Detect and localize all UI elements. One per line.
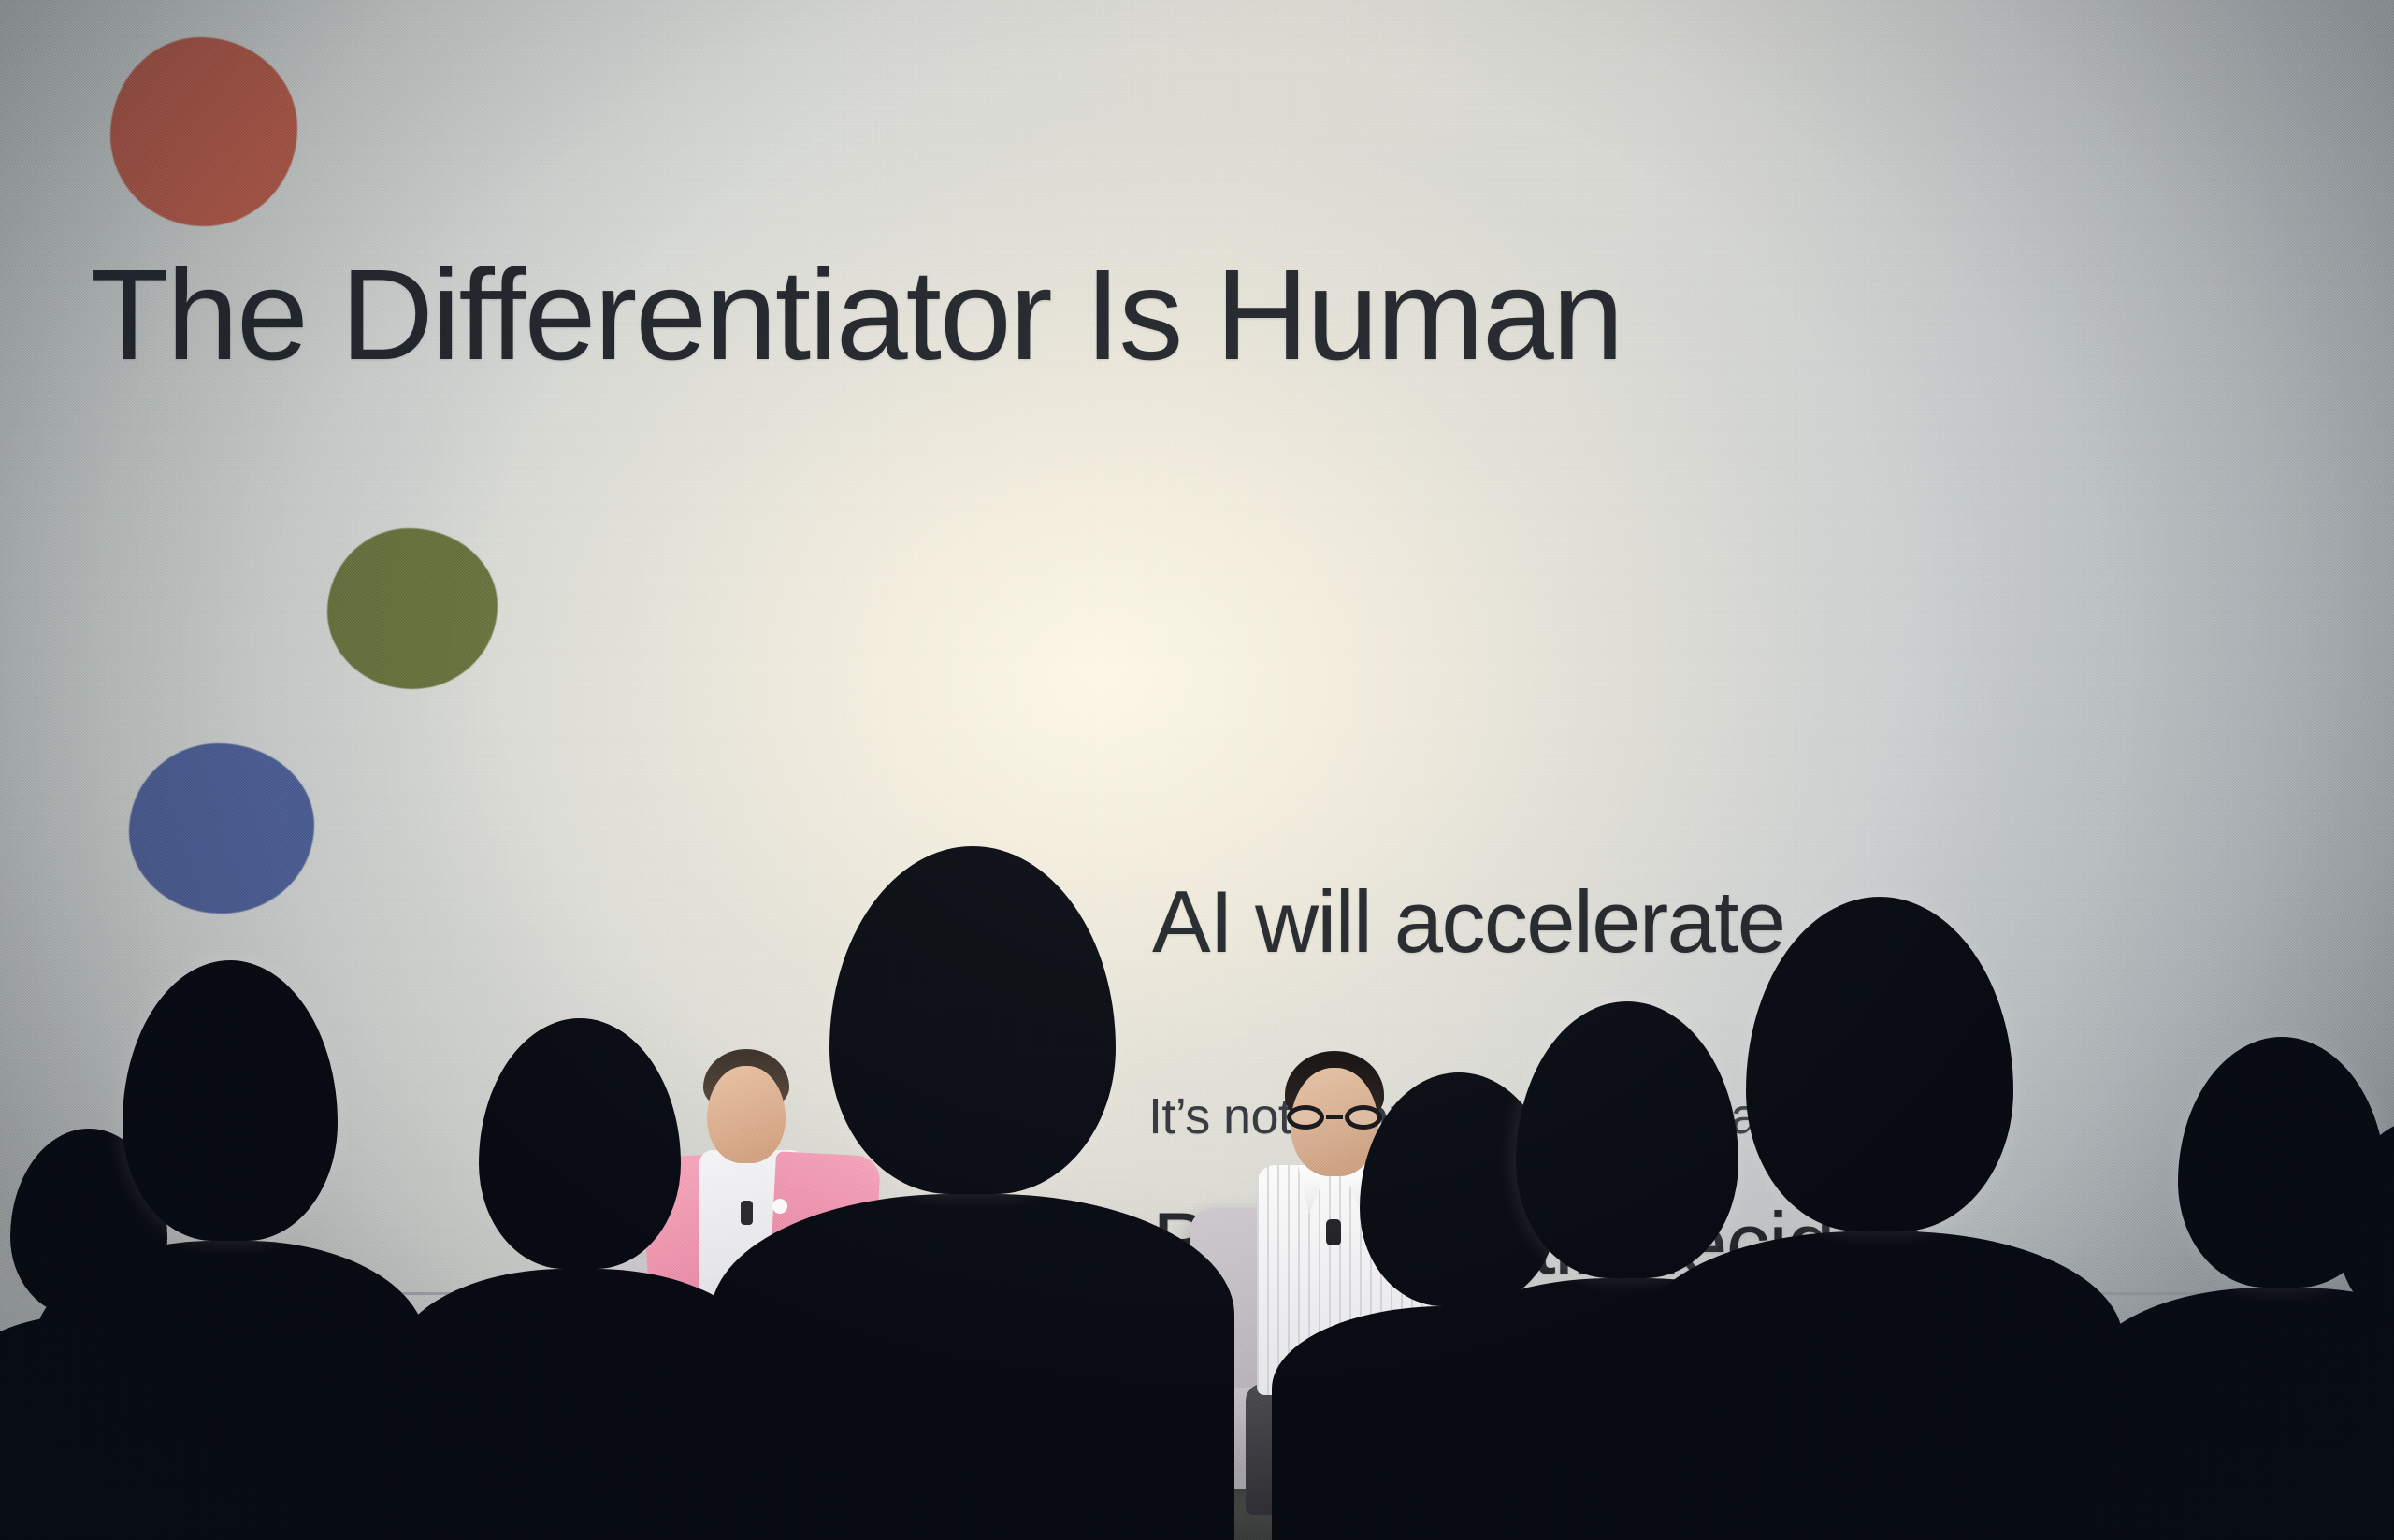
audience-head-2 bbox=[90, 775, 370, 1540]
audience-head-7-head bbox=[1746, 897, 2013, 1231]
audience-head-7 bbox=[1721, 755, 2039, 1540]
audience-head-9 bbox=[2300, 811, 2394, 1540]
audience-head-4-head bbox=[829, 846, 1116, 1194]
audience-head-3-head bbox=[479, 1018, 681, 1269]
slide-green-dot bbox=[327, 528, 498, 689]
audience-head-9-head bbox=[2338, 1119, 2394, 1325]
audience-head-4 bbox=[804, 728, 1141, 1540]
red-dot-shape bbox=[110, 37, 297, 226]
green-dot-shape bbox=[327, 528, 498, 689]
slide-red-dot bbox=[110, 37, 297, 226]
audience-head-2-shoulders bbox=[34, 1241, 426, 1540]
speaker-left-lavalier-mic bbox=[741, 1201, 753, 1225]
audience-head-2-head bbox=[123, 960, 338, 1241]
audience-head-3 bbox=[440, 773, 720, 1540]
speaker-left-lapel-pin bbox=[772, 1199, 787, 1214]
audience-head-6-head bbox=[1516, 1001, 1738, 1278]
slide-title: The Differentiator Is Human bbox=[90, 251, 1622, 380]
audience-head-7-shoulders bbox=[1637, 1231, 2123, 1540]
conference-stage-photo: The Differentiator Is Human AI will acce… bbox=[0, 0, 2394, 1540]
audience-head-4-shoulders bbox=[711, 1194, 1234, 1540]
